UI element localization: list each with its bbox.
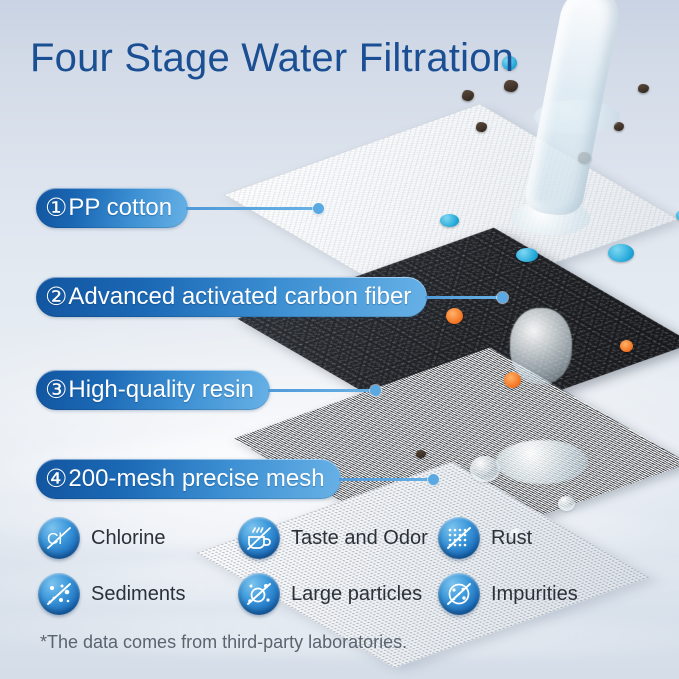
stage-number-3: ③ (45, 378, 67, 403)
feature-label-impurities: Impurities (491, 583, 578, 606)
chlorine-icon: Cl (38, 517, 80, 559)
feature-taste-odor[interactable]: Taste and Odor (238, 517, 438, 559)
stage-text-1: PP cotton (68, 196, 172, 220)
water-splash (510, 308, 572, 384)
stage-number-4: ④ (45, 467, 67, 492)
feature-label-large-particles: Large particles (291, 583, 422, 606)
stage-callout-2[interactable]: ② Advanced activated carbon fiber (36, 277, 508, 317)
page-title: Four Stage Water Filtration (30, 36, 514, 81)
sediments-icon (38, 573, 80, 615)
feature-chlorine[interactable]: Cl Chlorine (38, 517, 238, 559)
debris-particle (462, 90, 474, 101)
connector-dot-1 (313, 203, 324, 214)
stage-number-2: ② (45, 285, 67, 310)
debris-particle (504, 80, 518, 92)
blue-particle (608, 244, 634, 262)
connector-line-2 (425, 296, 500, 299)
stage-text-4: 200-mesh precise mesh (68, 467, 324, 491)
stage-label-pill-4[interactable]: ④ 200-mesh precise mesh (36, 459, 341, 499)
feature-rust[interactable]: Rust (438, 517, 638, 559)
stage-text-3: High-quality resin (68, 378, 253, 402)
feature-label-chlorine: Chlorine (91, 527, 165, 550)
connector-dot-3 (370, 385, 381, 396)
stage-callout-4[interactable]: ④ 200-mesh precise mesh (36, 459, 439, 499)
stage-label-pill-1[interactable]: ① PP cotton (36, 188, 188, 228)
stage-number-1: ① (45, 196, 67, 221)
blue-particle (516, 248, 538, 262)
orange-particle (620, 340, 633, 352)
stage-callout-1[interactable]: ① PP cotton (36, 188, 324, 228)
debris-particle (638, 84, 649, 93)
stage-callout-3[interactable]: ③ High-quality resin (36, 370, 381, 410)
connector-line-1 (186, 207, 316, 210)
taste-odor-icon (238, 517, 280, 559)
feature-large-particles[interactable]: Large particles (238, 573, 438, 615)
feature-sediments[interactable]: Sediments (38, 573, 238, 615)
connector-line-4 (339, 478, 431, 481)
feature-label-sediments: Sediments (91, 583, 186, 606)
blue-particle (440, 214, 459, 227)
svg-text:Cl: Cl (47, 531, 62, 548)
feature-label-taste-odor: Taste and Odor (291, 527, 428, 550)
water-filtration-infographic: Four Stage Water Filtration ① PP cotton … (0, 0, 679, 679)
stage-label-pill-3[interactable]: ③ High-quality resin (36, 370, 270, 410)
stage-label-pill-2[interactable]: ② Advanced activated carbon fiber (36, 277, 427, 317)
connector-line-3 (268, 389, 373, 392)
water-droplet (558, 496, 575, 511)
footnote-text: *The data comes from third-party laborat… (40, 632, 407, 653)
water-splash (496, 440, 588, 484)
stage-text-2: Advanced activated carbon fiber (68, 285, 411, 309)
removal-feature-grid: Cl Chlorine Taste and Odor (38, 517, 648, 615)
feature-label-rust: Rust (491, 527, 532, 550)
feature-impurities[interactable]: Impurities (438, 573, 638, 615)
connector-dot-4 (428, 474, 439, 485)
impurities-icon (438, 573, 480, 615)
connector-dot-2 (497, 292, 508, 303)
large-particles-icon (238, 573, 280, 615)
rust-icon (438, 517, 480, 559)
